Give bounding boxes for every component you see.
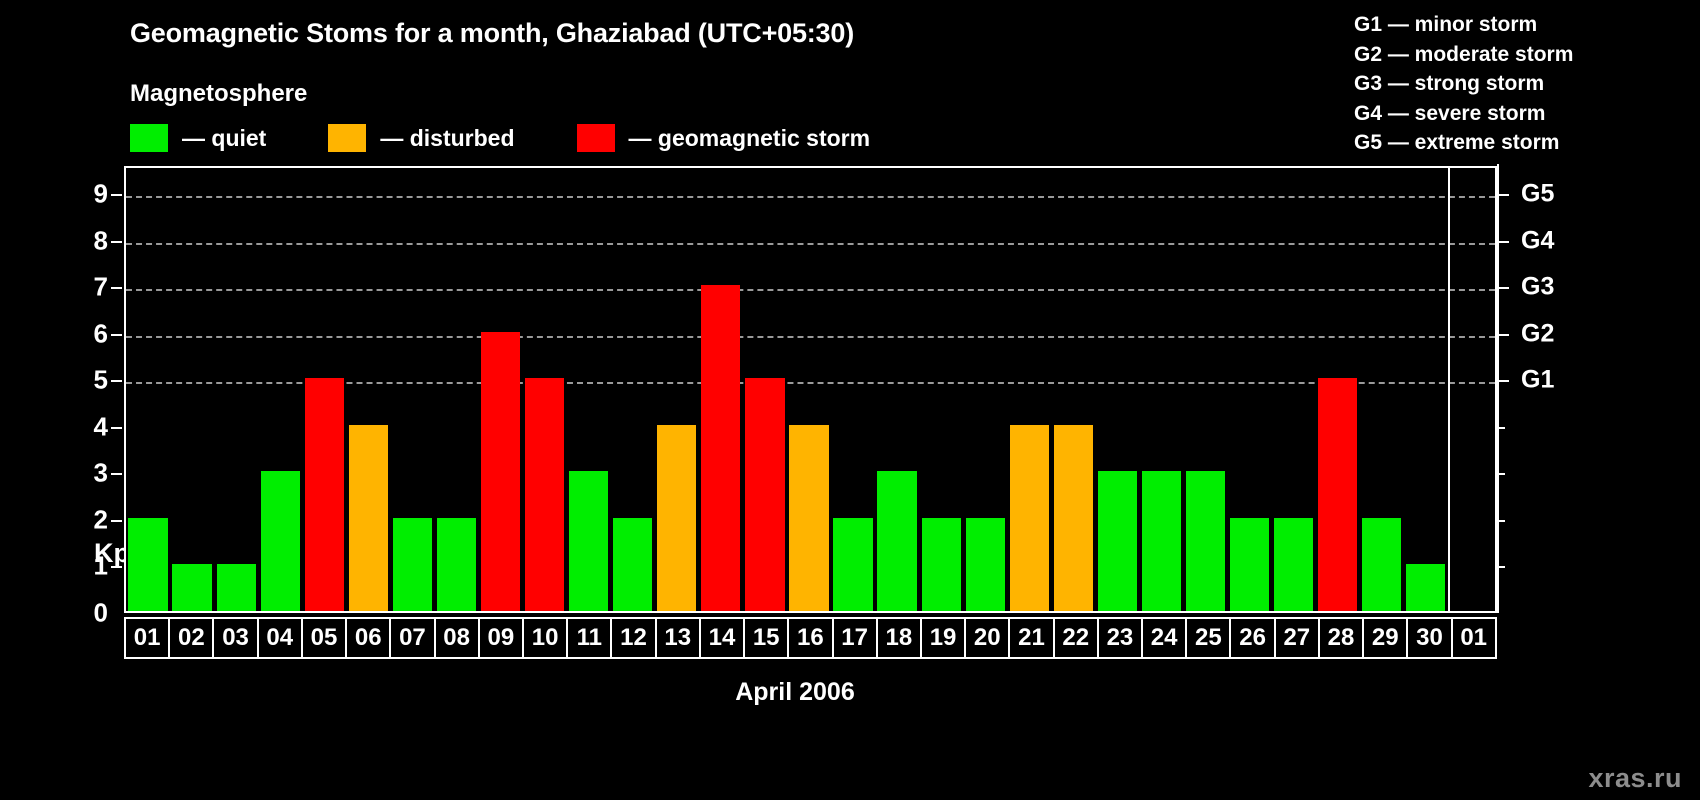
g-scale-axis-spine <box>1497 164 1499 613</box>
bar-slot <box>1051 168 1095 611</box>
x-axis-day-cell: 12 <box>612 619 656 657</box>
g-scale-tick-mark <box>1497 287 1509 289</box>
bar <box>1054 425 1093 611</box>
x-axis-day-cell: 28 <box>1320 619 1364 657</box>
x-axis-day-labels: 0102030405060708091011121314151617181920… <box>124 617 1497 659</box>
bar <box>1230 518 1269 611</box>
bar <box>1098 471 1137 611</box>
bar-slot <box>126 168 170 611</box>
y-tick-mark <box>111 520 122 522</box>
bar <box>525 378 564 611</box>
y-tick-label: 1 <box>94 551 108 582</box>
x-axis-day-cell: 17 <box>834 619 878 657</box>
bar <box>217 564 256 611</box>
y-tick-label: 9 <box>94 178 108 209</box>
legend-item-disturbed: — disturbed <box>328 124 514 152</box>
bar <box>922 518 961 611</box>
magnetosphere-heading: Magnetosphere <box>130 80 307 108</box>
y-tick-label: 7 <box>94 272 108 303</box>
y-axis: Kp 9876543210 <box>60 166 122 613</box>
bar <box>481 332 520 611</box>
bar-series <box>126 168 1448 611</box>
y-tick-label: 8 <box>94 225 108 256</box>
x-axis-day-cell: 19 <box>922 619 966 657</box>
magnetosphere-legend: — quiet — disturbed — geomagnetic storm <box>130 124 870 152</box>
bar-slot <box>390 168 434 611</box>
bar <box>1274 518 1313 611</box>
x-axis-day-cell: 05 <box>303 619 347 657</box>
x-axis-day-cell: 22 <box>1055 619 1099 657</box>
bar-slot <box>170 168 214 611</box>
bar-slot <box>1316 168 1360 611</box>
g-scale-minor-tick <box>1497 566 1505 568</box>
bar-slot <box>1360 168 1404 611</box>
g-scale-tick-mark <box>1497 380 1509 382</box>
g-scale-tick-mark <box>1497 194 1509 196</box>
x-axis-day-cell: 30 <box>1408 619 1452 657</box>
plot-area <box>124 166 1497 613</box>
bar <box>701 285 740 611</box>
g-scale-key: G1 — minor storm G2 — moderate storm G3 … <box>1354 10 1684 158</box>
y-tick-label: 3 <box>94 458 108 489</box>
x-axis-day-cell: 11 <box>568 619 612 657</box>
g-scale-tick-mark <box>1497 241 1509 243</box>
bar-slot <box>434 168 478 611</box>
x-axis-day-cell: 14 <box>701 619 745 657</box>
g-scale-key-line: G2 — moderate storm <box>1354 40 1684 70</box>
x-axis-day-cell: 08 <box>436 619 480 657</box>
y-tick-mark <box>111 380 122 382</box>
watermark: xras.ru <box>1588 763 1682 794</box>
y-tick-mark <box>111 241 122 243</box>
bar-slot <box>699 168 743 611</box>
legend-label-disturbed: — disturbed <box>380 125 514 152</box>
bar-slot <box>787 168 831 611</box>
x-axis-day-cell: 03 <box>214 619 258 657</box>
y-tick-mark <box>111 287 122 289</box>
bar <box>261 471 300 611</box>
x-axis-day-cell: 27 <box>1276 619 1320 657</box>
y-tick-mark <box>111 473 122 475</box>
x-axis-day-cell: 01 <box>126 619 170 657</box>
bar <box>1186 471 1225 611</box>
g-scale-key-line: G4 — severe storm <box>1354 99 1684 129</box>
bar-slot <box>1095 168 1139 611</box>
bar-slot <box>567 168 611 611</box>
x-axis-day-cell: 18 <box>878 619 922 657</box>
x-axis-day-cell: 07 <box>391 619 435 657</box>
x-axis-day-cell: 01 <box>1453 619 1495 657</box>
bar-slot <box>655 168 699 611</box>
month-separator-line <box>1448 168 1450 611</box>
x-axis-day-cell: 15 <box>745 619 789 657</box>
y-tick-mark <box>111 194 122 196</box>
bar <box>877 471 916 611</box>
bar <box>833 518 872 611</box>
g-scale-key-line: G3 — strong storm <box>1354 69 1684 99</box>
legend-label-quiet: — quiet <box>182 125 266 152</box>
x-axis-day-cell: 20 <box>966 619 1010 657</box>
chart-page: Geomagnetic Stoms for a month, Ghaziabad… <box>0 0 1700 800</box>
bar-slot <box>875 168 919 611</box>
bar-slot <box>743 168 787 611</box>
x-axis-day-cell: 09 <box>480 619 524 657</box>
x-axis-day-cell: 02 <box>170 619 214 657</box>
bar <box>1406 564 1445 611</box>
bar-slot <box>214 168 258 611</box>
bar-slot <box>1272 168 1316 611</box>
bar <box>305 378 344 611</box>
bar <box>1318 378 1357 611</box>
g-scale-tick-mark <box>1497 334 1509 336</box>
x-axis-day-cell: 16 <box>789 619 833 657</box>
g-scale-tick-label: G2 <box>1521 319 1554 348</box>
g-scale-tick-label: G4 <box>1521 226 1554 255</box>
bar-slot <box>831 168 875 611</box>
x-axis-day-cell: 13 <box>657 619 701 657</box>
x-axis-day-cell: 10 <box>524 619 568 657</box>
g-scale-minor-tick <box>1497 427 1505 429</box>
g-scale-key-line: G5 — extreme storm <box>1354 128 1684 158</box>
bar <box>789 425 828 611</box>
y-tick-mark <box>111 566 122 568</box>
bar-slot <box>919 168 963 611</box>
bar-slot <box>1228 168 1272 611</box>
legend-item-storm: — geomagnetic storm <box>577 124 871 152</box>
bar <box>437 518 476 611</box>
g-scale-tick-label: G3 <box>1521 273 1554 302</box>
y-tick-label: 5 <box>94 365 108 396</box>
bar <box>393 518 432 611</box>
x-axis-day-cell: 21 <box>1010 619 1054 657</box>
g-scale-key-line: G1 — minor storm <box>1354 10 1684 40</box>
x-axis-day-cell: 25 <box>1187 619 1231 657</box>
bar <box>613 518 652 611</box>
bar-slot <box>1007 168 1051 611</box>
bar-slot <box>258 168 302 611</box>
x-axis-day-cell: 29 <box>1364 619 1408 657</box>
disturbed-swatch <box>328 124 366 152</box>
page-title: Geomagnetic Stoms for a month, Ghaziabad… <box>130 18 854 49</box>
bar <box>569 471 608 611</box>
g-scale-minor-tick <box>1497 520 1505 522</box>
y-tick-label: 2 <box>94 504 108 535</box>
bar <box>172 564 211 611</box>
x-axis-day-cell: 23 <box>1099 619 1143 657</box>
bar <box>745 378 784 611</box>
x-axis-day-cell: 26 <box>1231 619 1275 657</box>
bar-slot <box>963 168 1007 611</box>
bar <box>1142 471 1181 611</box>
g-scale-axis: G5G4G3G2G1 <box>1497 166 1627 613</box>
bar-slot <box>523 168 567 611</box>
legend-item-quiet: — quiet <box>130 124 266 152</box>
bar-slot <box>346 168 390 611</box>
x-axis-day-cell: 24 <box>1143 619 1187 657</box>
legend-label-storm: — geomagnetic storm <box>629 125 871 152</box>
storm-swatch <box>577 124 615 152</box>
bar-slot <box>302 168 346 611</box>
bar-slot <box>1139 168 1183 611</box>
bar <box>1010 425 1049 611</box>
y-tick-mark <box>111 427 122 429</box>
g-scale-tick-label: G1 <box>1521 366 1554 395</box>
y-tick-label: 0 <box>94 598 108 629</box>
y-tick-mark <box>111 334 122 336</box>
bar-slot <box>1184 168 1228 611</box>
bar <box>966 518 1005 611</box>
y-tick-label: 6 <box>94 318 108 349</box>
x-axis-day-cell: 04 <box>259 619 303 657</box>
quiet-swatch <box>130 124 168 152</box>
bar-slot <box>611 168 655 611</box>
bar <box>1362 518 1401 611</box>
x-axis-day-cell: 06 <box>347 619 391 657</box>
bar <box>128 518 167 611</box>
bar <box>657 425 696 611</box>
x-axis-title: April 2006 <box>0 678 1700 707</box>
g-scale-minor-tick <box>1497 473 1505 475</box>
g-scale-tick-label: G5 <box>1521 179 1554 208</box>
bar-slot <box>479 168 523 611</box>
y-tick-label: 4 <box>94 411 108 442</box>
bar-slot <box>1404 168 1448 611</box>
bar <box>349 425 388 611</box>
